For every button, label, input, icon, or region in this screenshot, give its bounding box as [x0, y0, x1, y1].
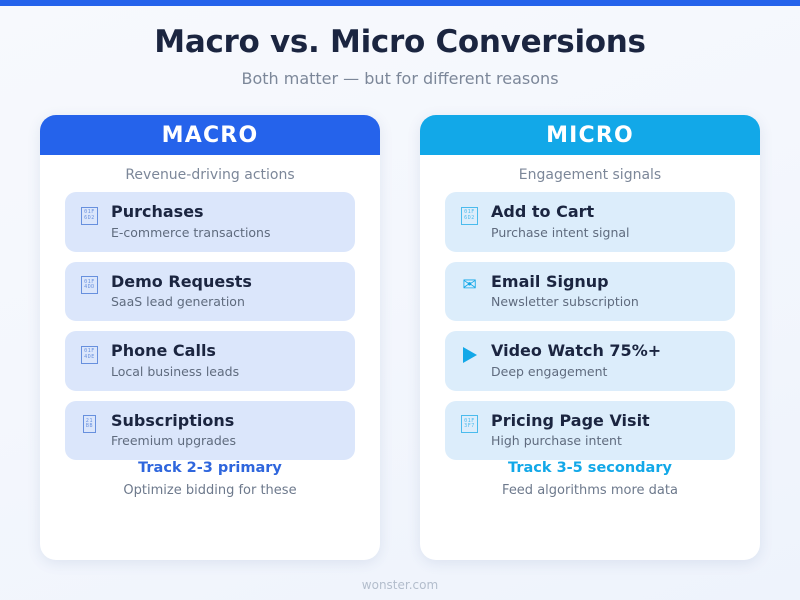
list-item-title: Purchases — [111, 203, 341, 221]
card-micro-item-list: 01F6D2 Add to Cart Purchase intent signa… — [420, 192, 760, 460]
comparison-cards: MACRO Revenue-driving actions 01F6D2 Pur… — [40, 115, 760, 560]
watermark: wonster.com — [0, 578, 800, 592]
repeat-arrow-icon: 21BB — [79, 414, 100, 435]
card-micro-footer: Track 3-5 secondary Feed algorithms more… — [420, 460, 760, 560]
memo-icon: 01F4DD — [79, 275, 100, 296]
card-micro-footer-sub: Feed algorithms more data — [420, 483, 760, 498]
page-header: Macro vs. Micro Conversions Both matter … — [0, 6, 800, 88]
card-micro-footer-main: Track 3-5 secondary — [420, 460, 760, 476]
card-macro-footer-main: Track 2-3 primary — [40, 460, 380, 476]
list-item-title: Add to Cart — [491, 203, 721, 221]
list-item-subtitle: Purchase intent signal — [491, 225, 721, 240]
card-macro-item-list: 01F6D2 Purchases E-commerce transactions… — [40, 192, 380, 460]
card-macro: MACRO Revenue-driving actions 01F6D2 Pur… — [40, 115, 380, 560]
list-item-subtitle: Deep engagement — [491, 364, 721, 379]
telephone-receiver-icon: 01F4DE — [79, 344, 100, 365]
envelope-icon: ✉ — [459, 275, 480, 296]
card-micro-header: MICRO — [420, 115, 760, 155]
list-item-title: Phone Calls — [111, 342, 341, 360]
card-macro-footer: Track 2-3 primary Optimize bidding for t… — [40, 460, 380, 560]
card-micro-caption: Engagement signals — [420, 155, 760, 192]
list-item[interactable]: 01F6D2 Add to Cart Purchase intent signa… — [445, 192, 735, 251]
list-item[interactable]: 01F4DD Demo Requests SaaS lead generatio… — [65, 262, 355, 321]
list-item[interactable]: 01F6D2 Purchases E-commerce transactions — [65, 192, 355, 251]
card-micro: MICRO Engagement signals 01F6D2 Add to C… — [420, 115, 760, 560]
list-item-title: Email Signup — [491, 273, 721, 291]
label-tag-icon: 01F3F7 — [459, 414, 480, 435]
list-item-subtitle: Newsletter subscription — [491, 294, 721, 309]
list-item-subtitle: Local business leads — [111, 364, 341, 379]
card-macro-header: MACRO — [40, 115, 380, 155]
card-macro-footer-sub: Optimize bidding for these — [40, 483, 380, 498]
shopping-cart-icon: 01F6D2 — [459, 205, 480, 226]
list-item-title: Demo Requests — [111, 273, 341, 291]
list-item-title: Video Watch 75%+ — [491, 342, 721, 360]
list-item-title: Subscriptions — [111, 412, 341, 430]
list-item[interactable]: ✉ Email Signup Newsletter subscription — [445, 262, 735, 321]
list-item-subtitle: Freemium upgrades — [111, 433, 341, 448]
list-item[interactable]: 01F3F7 Pricing Page Visit High purchase … — [445, 401, 735, 460]
page-title: Macro vs. Micro Conversions — [0, 24, 800, 60]
list-item[interactable]: Video Watch 75%+ Deep engagement — [445, 331, 735, 390]
list-item[interactable]: 01F4DE Phone Calls Local business leads — [65, 331, 355, 390]
list-item-subtitle: SaaS lead generation — [111, 294, 341, 309]
list-item[interactable]: 21BB Subscriptions Freemium upgrades — [65, 401, 355, 460]
card-macro-caption: Revenue-driving actions — [40, 155, 380, 192]
list-item-subtitle: High purchase intent — [491, 433, 721, 448]
play-triangle-icon — [459, 344, 480, 365]
list-item-title: Pricing Page Visit — [491, 412, 721, 430]
list-item-subtitle: E-commerce transactions — [111, 225, 341, 240]
shopping-cart-icon: 01F6D2 — [79, 205, 100, 226]
page-subtitle: Both matter — but for different reasons — [0, 69, 800, 88]
